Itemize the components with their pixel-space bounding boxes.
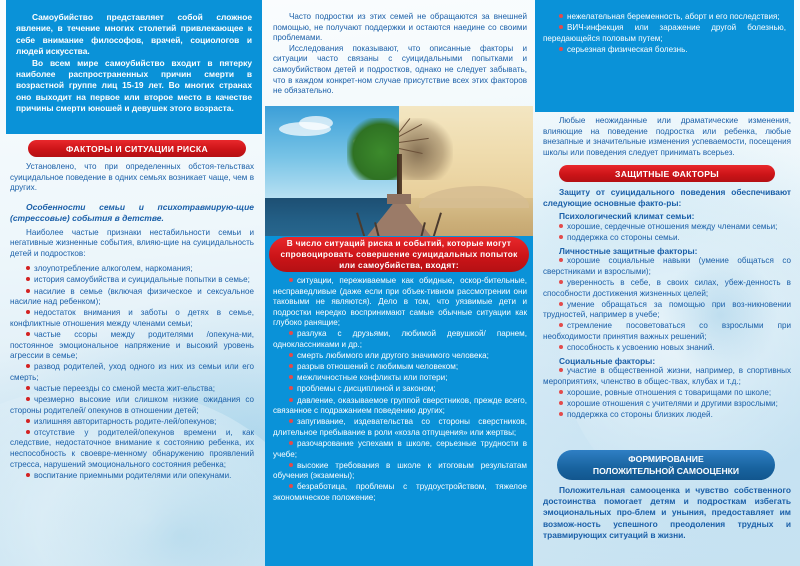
list-item: хорошие, сердечные отношения между члена… (543, 222, 791, 233)
bullet-icon (26, 430, 30, 434)
bullet-icon (26, 310, 30, 314)
list-item-text: чрезмерно высокие или слишком низкие ожи… (10, 395, 254, 415)
list-item-text: безработица, проблемы с трудоустройством… (273, 482, 527, 502)
list-item-text: хорошие, сердечные отношения между члена… (567, 222, 777, 231)
list-item: развод родителей, уход одного из них из … (10, 362, 254, 383)
list-item: высокие требования в школе к итоговым ре… (273, 461, 527, 482)
bullet-icon (289, 331, 293, 335)
protective-group-list: участие в общественной жизни, например, … (543, 366, 791, 420)
list-item-text: высокие требования в школе к итоговым ре… (273, 461, 527, 481)
list-item: умение обращаться за помощью при воз-ник… (543, 300, 791, 321)
bullet-icon (559, 368, 563, 372)
bullet-icon (559, 25, 563, 29)
list-item: отсутствие у родителей/опекунов времени … (10, 428, 254, 470)
bullet-icon (559, 14, 563, 18)
bullet-icon (559, 323, 563, 327)
middle-intro-paragraph-2: Исследования показывают, что описанные ф… (273, 44, 527, 97)
list-item: серьезная физическая болезнь. (543, 45, 786, 56)
list-item-text: межличностные конфликты или потери; (297, 373, 447, 382)
self-esteem-banner-line2: ПОЛОЖИТЕЛЬНОЙ САМООЦЕНКИ (593, 465, 739, 477)
list-item-text: умение обращаться за помощью при воз-ник… (543, 300, 791, 320)
list-item: частые ссоры между родителями /опекуна-м… (10, 330, 254, 362)
list-item: безработица, проблемы с трудоустройством… (273, 482, 527, 503)
bullet-icon (559, 412, 563, 416)
list-item-text: развод родителей, уход одного из них из … (10, 362, 254, 382)
list-item-text: частые ссоры между родителями /опекуна-м… (10, 330, 254, 360)
list-item-text: давление, оказываемое группой сверстнико… (273, 396, 527, 416)
protective-group-list: хорошие социальные навыки (умение общать… (543, 256, 791, 353)
list-item: разочарование успехами в школе, серьезны… (273, 439, 527, 460)
list-item: история самоубийства и суицидальные попы… (10, 275, 254, 286)
bullet-icon (26, 364, 30, 368)
bullet-icon (26, 289, 30, 293)
list-item: ситуации, переживаемые как обидные, оско… (273, 276, 527, 329)
list-item: межличностные конфликты или потери; (273, 373, 527, 384)
self-esteem-body: Положительная самооценка и чувство собст… (543, 485, 791, 541)
list-item-text: история самоубийства и суицидальные попы… (34, 275, 250, 284)
middle-risk-situation-list: ситуации, переживаемые как обидные, оско… (273, 276, 527, 503)
list-item-text: стремление посоветоваться со взрослыми п… (543, 321, 791, 341)
list-item: воспитание приемными родителями или опек… (10, 471, 254, 482)
protective-group-title: Психологический климат семьи: (543, 211, 791, 222)
left-lead-text: Установлено, что при определенных обстоя… (10, 162, 254, 194)
list-item-text: поддержка со стороны близких людей. (567, 410, 713, 419)
right-column: нежелательная беременность, аборт и его … (535, 0, 800, 566)
bullet-icon (26, 473, 30, 477)
list-item-text: нежелательная беременность, аборт и его … (567, 12, 780, 21)
right-section-banner-label: ЗАЩИТНЫЕ ФАКТОРЫ (615, 169, 719, 179)
list-item: недостаток внимания и заботы о детях в с… (10, 308, 254, 329)
list-item-text: злоупотребление алкоголем, наркомания; (34, 264, 193, 273)
right-intro-panel: нежелательная беременность, аборт и его … (535, 0, 794, 112)
bullet-icon (289, 375, 293, 379)
bullet-icon (289, 419, 293, 423)
bullet-icon (559, 224, 563, 228)
bullet-icon (559, 401, 563, 405)
right-lead-text: Защиту от суицидального поведения обеспе… (543, 187, 791, 209)
list-item-text: хорошие, ровные отношения с товарищами п… (567, 388, 771, 397)
list-item-text: серьезная физическая болезнь. (567, 45, 688, 54)
left-body: Установлено, что при определенных обстоя… (10, 162, 254, 482)
list-item-text: хорошие отношения с учителями и другими … (567, 399, 778, 408)
list-item-text: воспитание приемными родителями или опек… (34, 471, 231, 480)
bullet-icon (289, 441, 293, 445)
middle-section-banner-label: В число ситуаций риска и событий, которы… (279, 238, 519, 271)
list-item-text: способность к усвоению новых знаний. (567, 343, 715, 352)
bullet-icon (559, 258, 563, 262)
split-scene-photo (265, 106, 533, 254)
self-esteem-banner: ФОРМИРОВАНИЕ ПОЛОЖИТЕЛЬНОЙ САМООЦЕНКИ (557, 450, 775, 480)
list-item-text: излишняя авторитарность родите-лей/опеку… (34, 417, 216, 426)
list-item-text: уверенность в себе, в своих силах, убеж-… (543, 278, 791, 298)
bullet-icon (559, 302, 563, 306)
list-item-text: недостаток внимания и заботы о детях в с… (10, 308, 254, 328)
bullet-icon (559, 47, 563, 51)
list-item: уверенность в себе, в своих силах, убеж-… (543, 278, 791, 299)
brochure-page: Самоубийство представляет собой сложное … (0, 0, 800, 566)
left-intro-panel: Самоубийство представляет собой сложное … (6, 0, 262, 134)
right-section-banner: ЗАЩИТНЫЕ ФАКТОРЫ (559, 165, 775, 182)
bullet-icon (26, 386, 30, 390)
photo-green-canopy (347, 118, 399, 180)
self-esteem-paragraph: Положительная самооценка и чувство собст… (543, 485, 791, 541)
left-section-banner-label: ФАКТОРЫ И СИТУАЦИИ РИСКА (66, 144, 208, 154)
middle-body: ситуации, переживаемые как обидные, оско… (273, 276, 527, 504)
list-item-text: ВИЧ-инфекция или заражение другой болезн… (543, 23, 786, 43)
list-item: поддержка со стороны семьи. (543, 233, 791, 244)
left-lead-text-2: Наиболее частые признаки нестабильности … (10, 228, 254, 260)
left-intro-paragraph-2: Во всем мире самоубийство входит в пятер… (16, 58, 252, 115)
list-item: нежелательная беременность, аборт и его … (543, 12, 786, 23)
middle-column: Часто подростки из этих семей не обращаю… (265, 0, 533, 566)
protective-group-list: хорошие, сердечные отношения между члена… (543, 222, 791, 244)
bullet-icon (559, 390, 563, 394)
list-item: хорошие отношения с учителями и другими … (543, 399, 791, 410)
bullet-icon (289, 398, 293, 402)
list-item-text: хорошие социальные навыки (умение общать… (543, 256, 791, 276)
list-item: злоупотребление алкоголем, наркомания; (10, 264, 254, 275)
list-item: способность к усвоению новых знаний. (543, 343, 791, 354)
list-item: участие в общественной жизни, например, … (543, 366, 791, 387)
bullet-icon (26, 277, 30, 281)
bullet-icon (26, 419, 30, 423)
list-item-text: участие в общественной жизни, например, … (543, 366, 791, 386)
list-item: чрезмерно высокие или слишком низкие ожи… (10, 395, 254, 416)
bullet-icon (289, 353, 293, 357)
list-item: разрыв отношений с любимым человеком; (273, 362, 527, 373)
right-intro-paragraph-wrap: Любые неожиданные или драматические изме… (543, 116, 791, 158)
list-item-text: смерть любимого или другого значимого че… (297, 351, 489, 360)
bullet-icon (289, 484, 293, 488)
left-subheading: Особенности семьи и психотравмирую-щие (… (10, 202, 254, 225)
right-intro-paragraph: Любые неожиданные или драматические изме… (543, 116, 791, 158)
list-item: насилие в семье (включая физическое и се… (10, 287, 254, 308)
bullet-icon (559, 235, 563, 239)
list-item: смерть любимого или другого значимого че… (273, 351, 527, 362)
list-item: хорошие социальные навыки (умение общать… (543, 256, 791, 277)
bullet-icon (289, 364, 293, 368)
list-item-text: насилие в семье (включая физическое и се… (10, 287, 254, 307)
list-item: давление, оказываемое группой сверстнико… (273, 396, 527, 417)
list-item-text: ситуации, переживаемые как обидные, оско… (273, 276, 527, 327)
list-item-text: частые переезды со сменой места жит-ельс… (34, 384, 215, 393)
middle-intro: Часто подростки из этих семей не обращаю… (273, 12, 527, 97)
right-intro-bullet-list: нежелательная беременность, аборт и его … (543, 12, 786, 55)
bullet-icon (289, 386, 293, 390)
list-item-text: запугивание, издевательства со стороны с… (273, 417, 527, 437)
bullet-icon (289, 278, 293, 282)
middle-intro-paragraph-1: Часто подростки из этих семей не обращаю… (273, 12, 527, 44)
photo-cloud (299, 116, 333, 130)
left-section-banner: ФАКТОРЫ И СИТУАЦИИ РИСКА (28, 140, 246, 157)
list-item-text: поддержка со стороны семьи. (567, 233, 680, 242)
list-item: проблемы с дисциплиной и законом; (273, 384, 527, 395)
list-item: стремление посоветоваться со взрослыми п… (543, 321, 791, 342)
list-item-text: разлука с друзьями, любимой девушкой/ па… (273, 329, 527, 349)
list-item: разлука с друзьями, любимой девушкой/ па… (273, 329, 527, 350)
list-item: частые переезды со сменой места жит-ельс… (10, 384, 254, 395)
list-item: излишняя авторитарность родите-лей/опеку… (10, 417, 254, 428)
protective-group-title: Личностные защитные факторы: (543, 246, 791, 257)
left-intro-paragraph-1: Самоубийство представляет собой сложное … (16, 12, 252, 58)
list-item: запугивание, издевательства со стороны с… (273, 417, 527, 438)
bullet-icon (559, 345, 563, 349)
left-column: Самоубийство представляет собой сложное … (0, 0, 262, 566)
left-risk-factor-list: злоупотребление алкоголем, наркомания; и… (10, 264, 254, 481)
bullet-icon (559, 280, 563, 284)
bullet-icon (289, 463, 293, 467)
list-item: хорошие, ровные отношения с товарищами п… (543, 388, 791, 399)
photo-boardwalk-far (387, 194, 411, 204)
right-body: Защиту от суицидального поведения обеспе… (543, 187, 791, 421)
list-item-text: отсутствие у родителей/опекунов времени … (10, 428, 254, 469)
self-esteem-banner-line1: ФОРМИРОВАНИЕ (628, 453, 703, 465)
protective-group-title: Социальные факторы: (543, 356, 791, 367)
bullet-icon (26, 266, 30, 270)
list-item-text: разочарование успехами в школе, серьезны… (273, 439, 527, 459)
bullet-icon (26, 397, 30, 401)
list-item: ВИЧ-инфекция или заражение другой болезн… (543, 23, 786, 44)
middle-section-banner: В число ситуаций риска и событий, которы… (269, 237, 529, 272)
list-item-text: разрыв отношений с любимым человеком; (297, 362, 458, 371)
list-item-text: проблемы с дисциплиной и законом; (297, 384, 436, 393)
list-item: поддержка со стороны близких людей. (543, 410, 791, 421)
bullet-icon (26, 332, 30, 336)
